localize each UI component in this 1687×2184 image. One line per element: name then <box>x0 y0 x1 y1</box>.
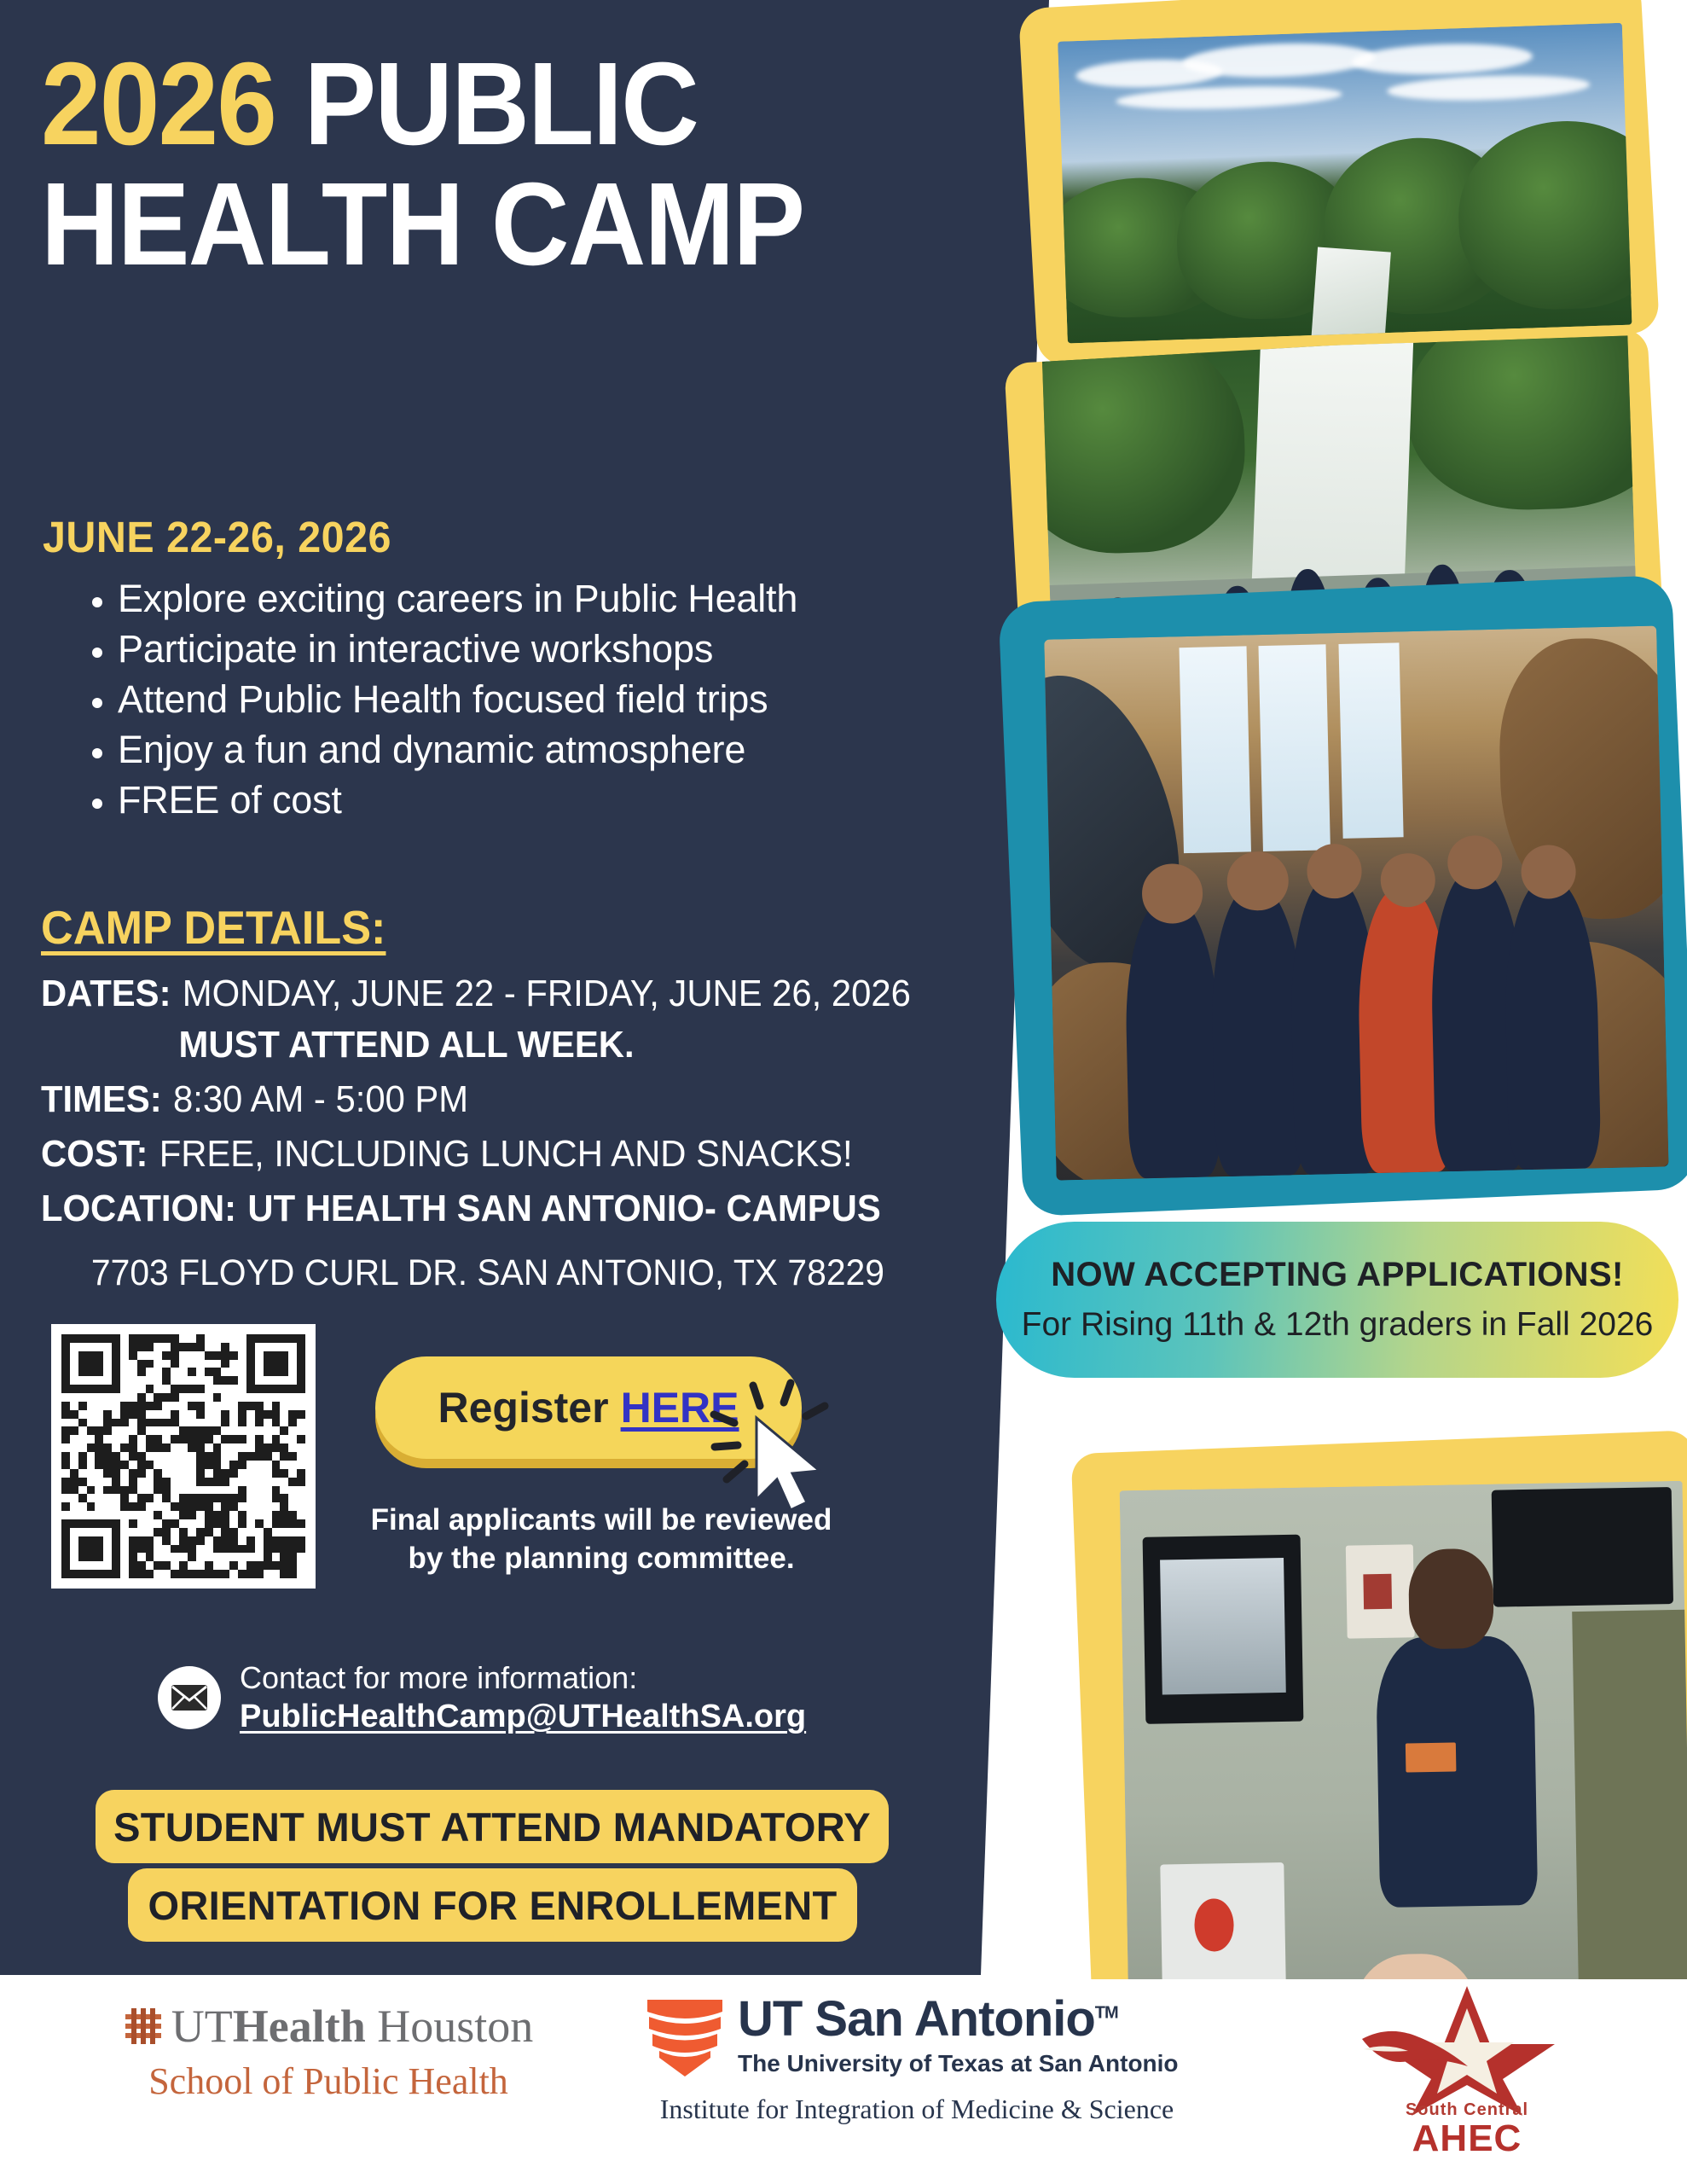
times-label: TIMES: <box>41 1078 162 1121</box>
title-year: 2026 <box>41 38 275 170</box>
cursor-pointer-icon <box>704 1374 849 1519</box>
uthealth-wordmark: UTHealth Houston <box>171 2003 534 2049</box>
register-button-label: Register <box>438 1383 609 1432</box>
qr-code[interactable] <box>51 1324 316 1589</box>
utsa-tm: TM <box>1095 2004 1118 2023</box>
detail-row-cost: COST: FREE, INCLUDING LUNCH AND SNACKS! <box>41 1133 941 1176</box>
utsa-institute: Institute for Integration of Medicine & … <box>644 2094 1190 2125</box>
contact-text: Contact for more information: PublicHeal… <box>240 1659 806 1739</box>
ahec-wordmark: AHEC <box>1330 2120 1603 2158</box>
location-value: UT HEALTH SAN ANTONIO- CAMPUS <box>247 1188 880 1230</box>
envelope-icon <box>158 1666 221 1729</box>
dates-value: MONDAY, JUNE 22 - FRIDAY, JUNE 26, 2026 <box>183 973 911 1015</box>
logo-ahec: South Central AHEC <box>1330 1983 1603 2158</box>
logo-utsa: UT San AntonioTM The University of Texas… <box>644 1995 1190 2125</box>
mandatory-banner-line1: STUDENT MUST ATTEND MANDATORY <box>96 1790 889 1863</box>
dates-note: MUST ATTEND ALL WEEK. <box>179 1024 941 1066</box>
detail-row-times: TIMES: 8:30 AM - 5:00 PM <box>41 1078 941 1121</box>
date-heading: JUNE 22-26, 2026 <box>43 512 391 562</box>
utsa-subtitle: The University of Texas at San Antonio <box>738 2050 1179 2077</box>
cost-label: COST: <box>41 1133 148 1176</box>
detail-row-location: LOCATION: UT HEALTH SAN ANTONIO- CAMPUS <box>41 1188 941 1230</box>
page-title: 2026 PUBLIC HEALTH CAMP <box>41 44 996 285</box>
applications-pill: NOW ACCEPTING APPLICATIONS! For Rising 1… <box>996 1222 1678 1378</box>
list-item: FREE of cost <box>118 775 797 826</box>
ahec-star-icon <box>1360 1983 1574 2119</box>
list-item: Enjoy a fun and dynamic atmosphere <box>118 725 797 775</box>
uthealth-subtitle: School of Public Health <box>81 2059 576 2103</box>
applications-headline: NOW ACCEPTING APPLICATIONS! <box>1051 1256 1624 1294</box>
uthealth-health: Health <box>233 2001 366 2052</box>
list-item: Explore exciting careers in Public Healt… <box>118 574 797 624</box>
times-value: 8:30 AM - 5:00 PM <box>173 1078 468 1121</box>
list-item: Participate in interactive workshops <box>118 624 797 675</box>
photo-frame-nature-top <box>1018 0 1660 367</box>
photo-frame-group <box>998 575 1687 1217</box>
utsa-wordmark: UT San AntonioTM <box>738 1995 1179 2044</box>
mandatory-banner-line2: ORIENTATION FOR ENROLLEMENT <box>128 1868 857 1942</box>
utsa-shield-icon <box>644 1995 726 2083</box>
flyer-page: 2026 PUBLIC HEALTH CAMP JUNE 22-26, 2026… <box>0 0 1687 2184</box>
utsa-name-text: UT San Antonio <box>738 1991 1095 2047</box>
dates-label: DATES: <box>41 973 171 1015</box>
list-item: Attend Public Health focused field trips <box>118 675 797 725</box>
photo-nature-top <box>1058 23 1632 344</box>
location-label: LOCATION: <box>41 1188 236 1230</box>
contact-block: Contact for more information: PublicHeal… <box>158 1659 806 1739</box>
detail-row-dates: DATES: MONDAY, JUNE 22 - FRIDAY, JUNE 26… <box>41 973 941 1015</box>
cost-value: FREE, INCLUDING LUNCH AND SNACKS! <box>159 1133 853 1176</box>
uthealth-ut: UT <box>171 2001 233 2052</box>
footer-logos: UTHealth Houston School of Public Health <box>0 1979 1687 2184</box>
uthealth-houston: Houston <box>366 2001 534 2052</box>
title-line-1-rest: PUBLIC <box>275 38 698 170</box>
contact-prompt: Contact for more information: <box>240 1659 806 1696</box>
logo-uthealth-houston: UTHealth Houston School of Public Health <box>81 2003 576 2103</box>
uthealth-weave-icon <box>124 2007 163 2046</box>
applications-subline: For Rising 11th & 12th graders in Fall 2… <box>1022 1306 1654 1344</box>
camp-details-heading: CAMP DETAILS: <box>41 900 386 955</box>
location-address: 7703 FLOYD CURL DR. SAN ANTONIO, TX 7822… <box>91 1252 941 1294</box>
title-line-2: HEALTH CAMP <box>41 165 919 285</box>
photo-group-fossil <box>1044 626 1668 1181</box>
contact-email-link[interactable]: PublicHealthCamp@UTHealthSA.org <box>240 1696 806 1738</box>
camp-details-block: DATES: MONDAY, JUNE 22 - FRIDAY, JUNE 26… <box>41 973 941 1294</box>
benefits-list: Explore exciting careers in Public Healt… <box>51 574 797 826</box>
title-line-1: 2026 PUBLIC <box>41 44 919 165</box>
